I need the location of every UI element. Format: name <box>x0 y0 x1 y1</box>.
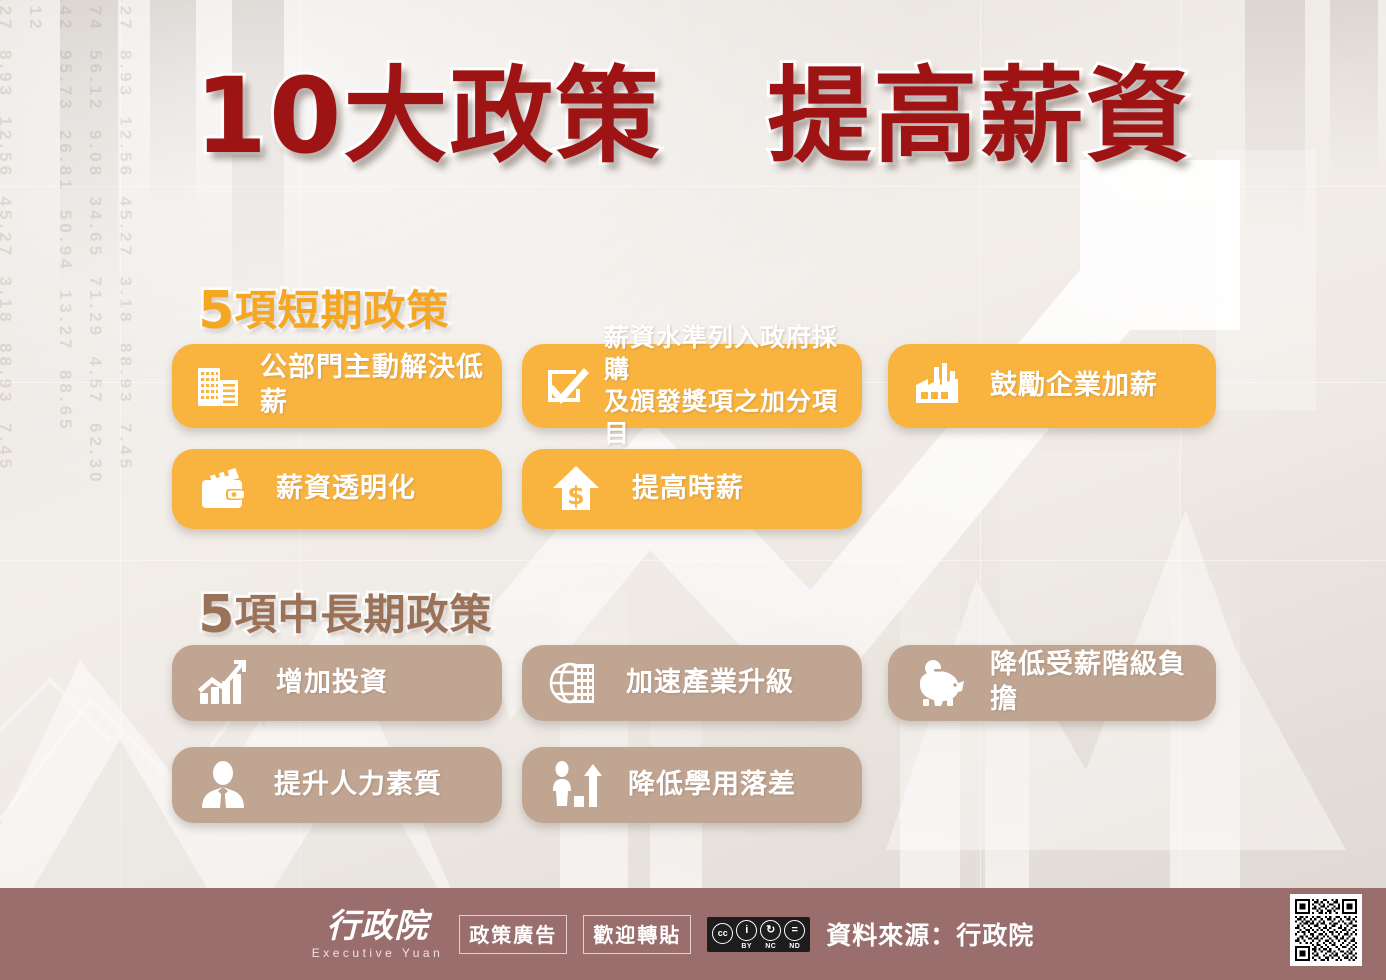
cc-icon: cc <box>712 923 733 946</box>
tag-welcome-share: 歡迎轉貼 <box>583 915 691 954</box>
policy-label: 提升人力素質 <box>274 768 442 803</box>
cc-glyph: ↻ <box>760 920 781 941</box>
logo-english-name: Executive Yuan <box>312 947 444 959</box>
section-number-short-term: 5 <box>198 281 234 341</box>
policy-label: 鼓勵企業加薪 <box>990 369 1158 404</box>
cc-nd-icon: = ND <box>784 920 805 950</box>
cc-glyph: = <box>784 920 805 941</box>
grid-line <box>0 560 1386 561</box>
checkbox-check-icon <box>540 359 594 413</box>
source-text: 資料來源：行政院 <box>826 916 1034 952</box>
policy-card-reduce-skills-gap[interactable]: 降低學用落差 <box>522 747 862 823</box>
cc-label: NC <box>765 943 776 950</box>
policy-label: 提高時薪 <box>632 472 744 507</box>
piggy-bank-icon <box>910 659 968 707</box>
cc-by-icon: i BY <box>736 920 757 950</box>
policy-card-increase-investment[interactable]: 增加投資 <box>172 645 502 721</box>
executive-yuan-logo: 行政院 Executive Yuan <box>312 909 444 959</box>
policy-label: 加速產業升級 <box>626 666 794 701</box>
logo-chinese-name: 行政院 <box>326 909 428 942</box>
policy-card-reduce-burden[interactable]: 降低受薪階級負擔 <box>888 645 1216 721</box>
dollar-arrow-up-icon: $ <box>550 463 602 515</box>
cc-label: BY <box>741 943 752 950</box>
growth-chart-icon <box>194 659 250 707</box>
infographic-poster: 45.27 8.93 12.56 45.27 3.18 88.93 7.45 2… <box>0 0 1386 980</box>
person-growth-icon <box>550 760 602 810</box>
globe-building-icon <box>548 657 600 709</box>
bar-shape <box>1170 570 1240 890</box>
policy-label: 公部門主動解決低薪 <box>260 351 488 420</box>
qr-code-image <box>1295 899 1357 961</box>
svg-text:$: $ <box>567 481 584 510</box>
policy-card-encourage-raise[interactable]: 鼓勵企業加薪 <box>888 344 1216 428</box>
policy-label: 薪資水準列入政府採購 及頒發獎項之加分項目 <box>604 322 850 450</box>
bar-shape <box>560 590 628 890</box>
policy-label: 降低受薪階級負擔 <box>990 648 1202 717</box>
policy-card-salary-transparency[interactable]: 薪資透明化 <box>172 449 502 529</box>
policy-label: 降低學用落差 <box>628 768 796 803</box>
page-title: 10大政策 提高薪資 <box>0 62 1386 171</box>
creative-commons-badge: cc i BY ↻ NC = ND <box>707 917 810 952</box>
cc-glyph: cc <box>712 923 733 944</box>
policy-card-raise-hourly-wage[interactable]: $ 提高時薪 <box>522 449 862 529</box>
office-building-icon <box>190 358 246 414</box>
policy-label: 增加投資 <box>276 666 388 701</box>
section-title-mid-long-term: 項中長期政策 <box>234 590 492 639</box>
grid-line <box>0 186 1386 187</box>
qr-code[interactable] <box>1290 894 1362 966</box>
policy-label: 薪資透明化 <box>276 472 416 507</box>
factory-icon <box>910 361 966 411</box>
wallet-icon <box>196 464 252 514</box>
tag-policy-ad: 政策廣告 <box>459 915 567 954</box>
policy-card-industry-upgrade[interactable]: 加速產業升級 <box>522 645 862 721</box>
cc-glyph: i <box>736 920 757 941</box>
policy-card-improve-workforce[interactable]: 提升人力素質 <box>172 747 502 823</box>
section-title-short-term: 項短期政策 <box>234 286 449 335</box>
section-number-mid-long-term: 5 <box>198 585 234 645</box>
policy-card-public-sector[interactable]: 公部門主動解決低薪 <box>172 344 502 428</box>
cc-nc-icon: ↻ NC <box>760 920 781 950</box>
right-angular-shapes <box>886 150 1386 850</box>
policy-card-procurement-bonus[interactable]: 薪資水準列入政府採購 及頒發獎項之加分項目 <box>522 344 862 428</box>
cc-label: ND <box>789 943 800 950</box>
footer-bar: 行政院 Executive Yuan 政策廣告 歡迎轉貼 cc i BY ↻ N… <box>0 888 1386 980</box>
businessperson-icon <box>198 760 248 810</box>
